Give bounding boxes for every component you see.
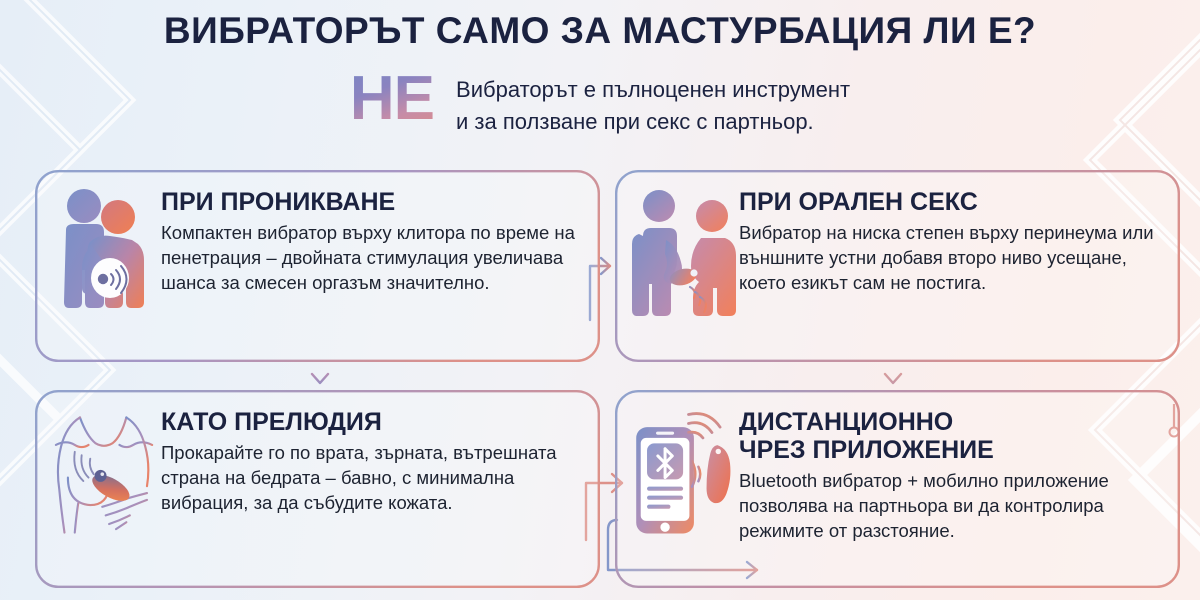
- card-remote-body: ДИСТАНЦИОННО ЧРЕЗ ПРИЛОЖЕНИЕ Bluetooth в…: [739, 404, 1164, 543]
- card-foreplay-title: КАТО ПРЕЛЮДИЯ: [161, 408, 584, 436]
- card-oral-text: Вибратор на ниска степен върху перинеума…: [739, 221, 1164, 295]
- card-remote-text: Bluetooth вибратор + мобилно приложение …: [739, 469, 1164, 543]
- card-oral[interactable]: ПРИ ОРАЛЕН СЕКС Вибратор на ниска степен…: [615, 170, 1180, 362]
- page-title: ВИБРАТОРЪТ САМО ЗА МАСТУРБАЦИЯ ЛИ Е?: [0, 0, 1200, 52]
- couple-oral-icon: [629, 184, 739, 318]
- header: ВИБРАТОРЪТ САМО ЗА МАСТУРБАЦИЯ ЛИ Е? НЕ …: [0, 0, 1200, 138]
- card-oral-title: ПРИ ОРАЛЕН СЕКС: [739, 188, 1164, 216]
- card-foreplay-body: КАТО ПРЕЛЮДИЯ Прокарайте го по врата, зъ…: [159, 404, 584, 515]
- torso-bullet-vibrator-icon: [49, 404, 159, 546]
- answer-line-1: Вибраторът е пълноценен инструмент: [456, 74, 850, 106]
- card-oral-body: ПРИ ОРАЛЕН СЕКС Вибратор на ниска степен…: [739, 184, 1164, 295]
- subheadline: НЕ Вибраторът е пълноценен инструмент и …: [0, 68, 1200, 138]
- card-penetration-title: ПРИ ПРОНИКВАНЕ: [161, 188, 584, 216]
- card-remote[interactable]: ДИСТАНЦИОННО ЧРЕЗ ПРИЛОЖЕНИЕ Bluetooth в…: [615, 390, 1180, 588]
- couple-penetration-icon: [49, 184, 159, 310]
- card-penetration-text: Компактен вибратор върху клитора по врем…: [161, 221, 584, 295]
- card-penetration[interactable]: ПРИ ПРОНИКВАНЕ Компактен вибратор върху …: [35, 170, 600, 362]
- card-foreplay-text: Прокарайте го по врата, зърната, вътрешн…: [161, 441, 584, 515]
- phone-bluetooth-vibrator-icon: [629, 404, 739, 544]
- card-penetration-body: ПРИ ПРОНИКВАНЕ Компактен вибратор върху …: [159, 184, 584, 295]
- card-foreplay[interactable]: КАТО ПРЕЛЮДИЯ Прокарайте го по врата, зъ…: [35, 390, 600, 588]
- answer-description: Вибраторът е пълноценен инструмент и за …: [456, 68, 850, 138]
- answer-no-word: НЕ: [350, 68, 434, 129]
- answer-line-2: и за ползване при секс с партньор.: [456, 106, 850, 138]
- card-remote-title: ДИСТАНЦИОННО ЧРЕЗ ПРИЛОЖЕНИЕ: [739, 408, 1164, 464]
